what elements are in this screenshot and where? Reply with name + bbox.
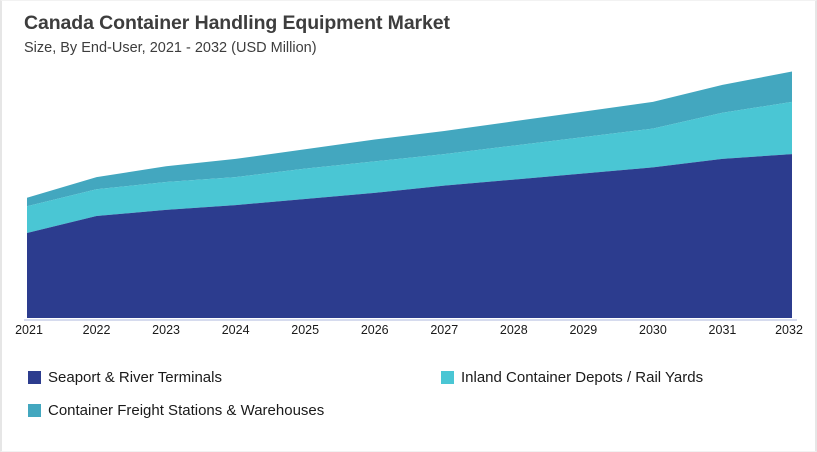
x-axis-tick-2031: 2031	[709, 323, 737, 337]
stacked-area-chart	[2, 1, 817, 331]
chart-container: Canada Container Handling Equipment Mark…	[0, 0, 817, 452]
legend-item-freight[interactable]: Container Freight Stations & Warehouses	[28, 402, 324, 419]
x-axis-tick-2029: 2029	[569, 323, 597, 337]
x-axis-tick-2032: 2032	[775, 323, 803, 337]
x-axis-tick-2021: 2021	[15, 323, 43, 337]
plot-area	[2, 1, 817, 331]
legend-label-inland: Inland Container Depots / Rail Yards	[461, 369, 703, 386]
legend-label-seaport: Seaport & River Terminals	[48, 369, 222, 386]
x-axis-tick-2028: 2028	[500, 323, 528, 337]
x-axis-tick-2030: 2030	[639, 323, 667, 337]
legend-swatch-seaport-icon	[28, 371, 41, 384]
area-series-group	[27, 72, 792, 319]
x-axis-tick-labels: 2021202220232024202520262027202820292030…	[2, 323, 817, 345]
x-axis-tick-2023: 2023	[152, 323, 180, 337]
legend-swatch-inland-icon	[441, 371, 454, 384]
legend-item-inland[interactable]: Inland Container Depots / Rail Yards	[441, 369, 703, 386]
x-axis-tick-2027: 2027	[430, 323, 458, 337]
legend-label-freight: Container Freight Stations & Warehouses	[48, 402, 324, 419]
legend-item-seaport[interactable]: Seaport & River Terminals	[28, 369, 222, 386]
x-axis-tick-2026: 2026	[361, 323, 389, 337]
chart-legend: Seaport & River TerminalsInland Containe…	[2, 367, 817, 431]
x-axis-tick-2024: 2024	[222, 323, 250, 337]
x-axis-tick-2022: 2022	[83, 323, 111, 337]
legend-swatch-freight-icon	[28, 404, 41, 417]
x-axis-tick-2025: 2025	[291, 323, 319, 337]
